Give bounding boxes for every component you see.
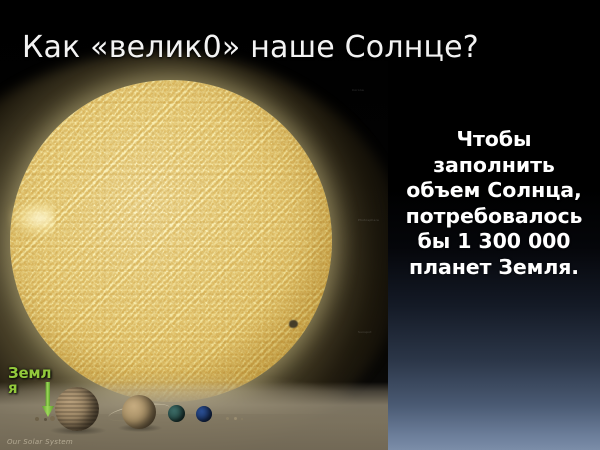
credit-title: Our Solar System: [7, 438, 73, 446]
photo-annotation-corona: Corona: [352, 88, 364, 92]
photo-annotation-sunspot: Sunspot: [358, 330, 372, 334]
planet-uranus: [168, 405, 185, 422]
sun-photo: Земл я Corona Photosphere Sunspot Our So…: [0, 0, 388, 450]
planet-jupiter: [55, 387, 99, 431]
sun-disc: [10, 80, 332, 402]
small-body-1: [226, 417, 229, 420]
slide-canvas: Земл я Corona Photosphere Sunspot Our So…: [0, 0, 600, 450]
photo-annotation-photosphere: Photosphere: [358, 218, 379, 222]
credit-strip: Our Solar System Mercury Venus Earth Mar…: [0, 432, 388, 450]
small-body-3: [241, 418, 243, 420]
planet-mercury: [35, 417, 39, 421]
page-title: Как «велик0» наше Солнце?: [22, 30, 479, 65]
planet-neptune: [196, 406, 212, 422]
planet-venus: [44, 418, 47, 421]
small-body-2: [234, 417, 237, 420]
sunspot: [289, 320, 298, 328]
planet-saturn: [122, 395, 156, 429]
solar-prominence: [8, 198, 54, 238]
body-text: Чтобы заполнить объем Солнца, потребовал…: [396, 127, 592, 280]
credit-planet-list: Mercury Venus Earth Mars Jupiter Saturn …: [76, 443, 161, 446]
text-panel: Чтобы заполнить объем Солнца, потребовал…: [388, 0, 600, 450]
down-arrow-icon: [41, 382, 55, 418]
